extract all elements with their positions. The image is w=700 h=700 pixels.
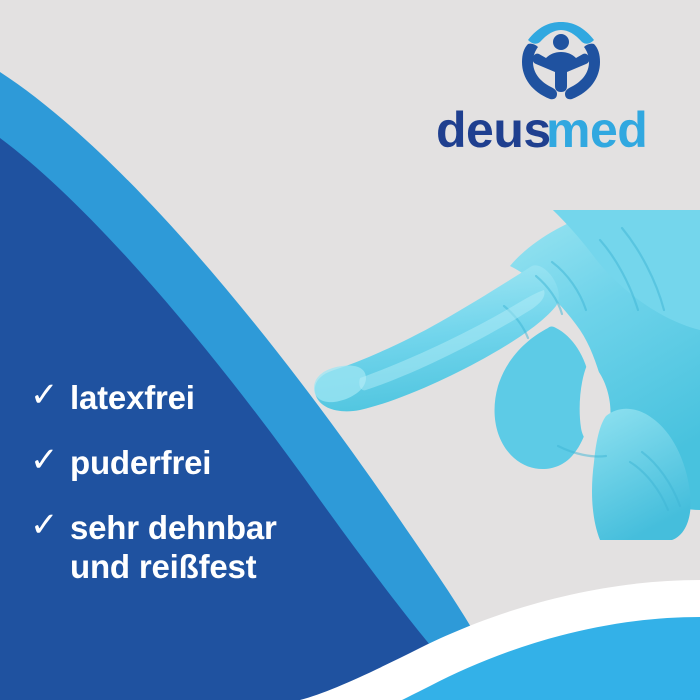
feature-item-puderfrei: ✓ puderfrei — [30, 443, 360, 482]
gloved-hand-photo — [300, 210, 700, 540]
logo-person-head — [553, 34, 569, 50]
logo-hand-left — [522, 44, 557, 100]
check-icon: ✓ — [30, 506, 70, 544]
brand-lockup: deus med — [432, 22, 690, 158]
logo-hand-right — [565, 44, 600, 100]
check-icon: ✓ — [30, 376, 70, 414]
glove-middle-finger — [495, 327, 592, 470]
check-icon: ✓ — [30, 441, 70, 479]
feature-label: latexfrei — [70, 378, 360, 417]
brand-wordmark: deus med — [436, 104, 686, 158]
wordmark-deus: deus — [436, 104, 551, 158]
feature-item-dehnbar-reissfest: ✓ sehr dehnbar und reißfest — [30, 508, 360, 586]
banner-canvas: deus med ✓ latexfrei ✓ puderfrei ✓ sehr … — [0, 0, 700, 700]
wordmark-med: med — [546, 104, 647, 158]
feature-label: puderfrei — [70, 443, 360, 482]
shield-hands-person-logo-icon — [520, 22, 602, 100]
feature-item-latexfrei: ✓ latexfrei — [30, 378, 360, 417]
glove-artwork — [314, 210, 700, 540]
feature-label: sehr dehnbar und reißfest — [70, 508, 360, 586]
feature-list: ✓ latexfrei ✓ puderfrei ✓ sehr dehnbar u… — [30, 378, 360, 612]
